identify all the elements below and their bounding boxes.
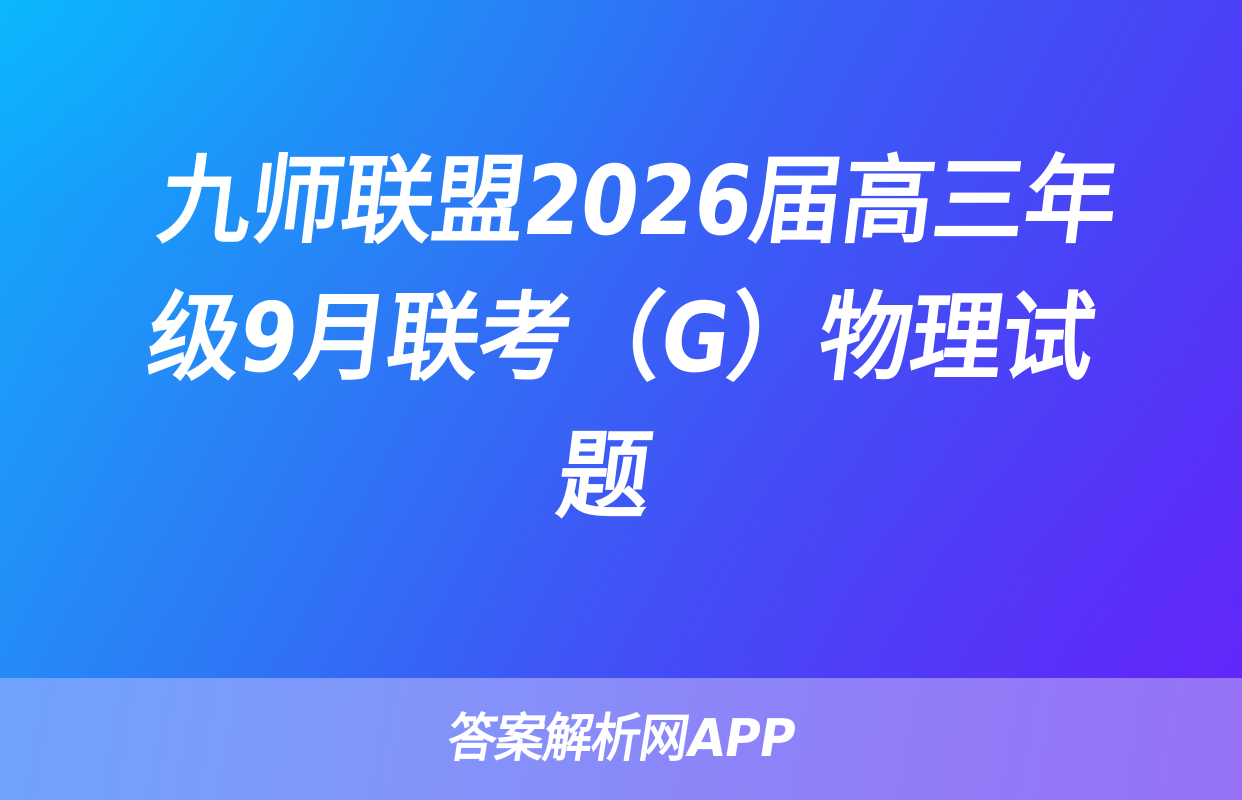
footer-brand-label: 答案解析网APP (444, 713, 799, 765)
page-title: 九师联盟2026届高三年级9月联考（G）物理试题 (106, 133, 1136, 545)
footer-brand-band: 答案解析网APP (0, 678, 1242, 800)
hero-title-container: 九师联盟2026届高三年级9月联考（G）物理试题 (0, 0, 1242, 678)
poster-root: 九师联盟2026届高三年级9月联考（G）物理试题 答案解析网APP (0, 0, 1242, 800)
